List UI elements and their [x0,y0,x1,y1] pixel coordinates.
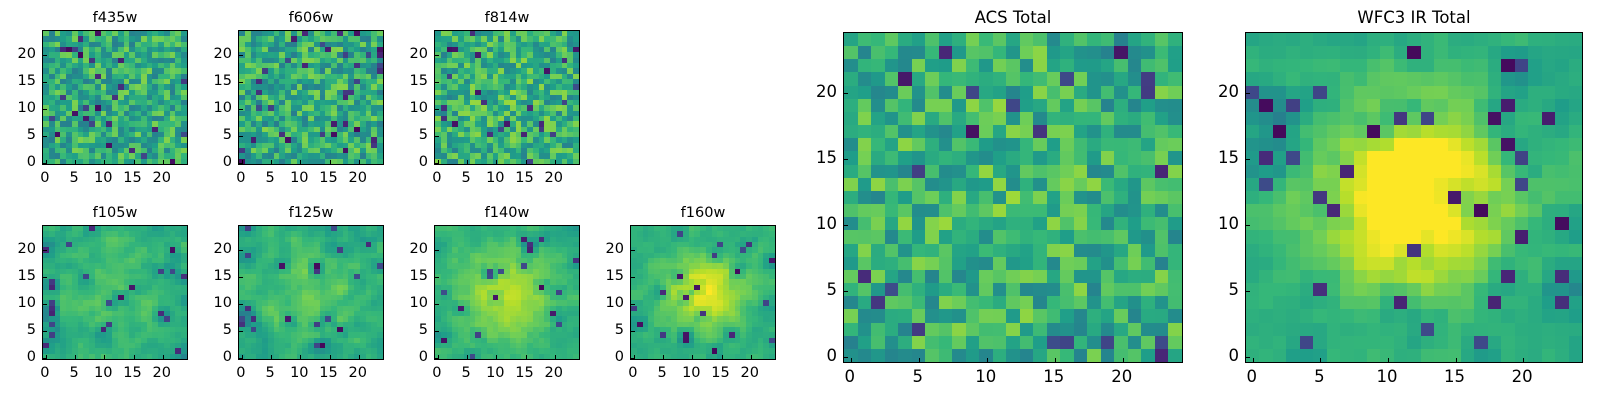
x-ticklabel-acs-total-10: 10 [975,369,996,386]
cutout-panel-f140w: f140w0510152005101520 [434,225,580,360]
y-tick-f435w-10 [43,109,47,110]
y-ticklabel-f160w-15: 15 [594,269,624,284]
y-tick-f435w-5 [43,136,47,137]
y-tick-f606w-5 [239,136,243,137]
y-ticklabel-f105w-20: 20 [6,242,36,257]
x-ticklabel-f606w-15: 15 [319,171,337,186]
x-tick-f105w-5 [75,355,76,359]
x-ticklabel-wfc3-ir-total-10: 10 [1376,369,1397,386]
panel-title-f606w: f606w [238,11,384,26]
y-ticklabel-f125w-0: 0 [202,350,232,365]
x-tick-wfc3-ir-total-15 [1456,358,1457,362]
pixel-grid-f140w [435,226,579,359]
x-ticklabel-f140w-5: 5 [461,366,470,381]
y-ticklabel-wfc3-ir-total-20: 20 [1209,83,1239,100]
x-ticklabel-f105w-10: 10 [94,366,112,381]
x-ticklabel-f160w-10: 10 [682,366,700,381]
y-ticklabel-acs-total-15: 15 [807,150,837,167]
y-tick-f125w-0 [239,358,243,359]
cutout-panel-f125w: f125w0510152005101520 [238,225,384,360]
y-tick-f140w-15 [435,277,439,278]
x-tick-f140w-20 [555,355,556,359]
pixel-grid-f435w [43,31,187,164]
x-tick-acs-total-0 [851,358,852,362]
cutout-panel-f435w: f435w0510152005101520 [42,30,188,165]
panel-title-f105w: f105w [42,206,188,221]
x-ticklabel-acs-total-15: 15 [1043,369,1064,386]
cutout-panel-f814w: f814w0510152005101520 [434,30,580,165]
x-ticklabel-f160w-0: 0 [628,366,637,381]
x-tick-f606w-20 [359,160,360,164]
image-axes-f814w [434,30,580,165]
panel-title-f814w: f814w [434,11,580,26]
y-ticklabel-f160w-10: 10 [594,296,624,311]
y-tick-f125w-10 [239,304,243,305]
cutout-panel-wfc3-ir-total: WFC3 IR Total0510152005101520 [1245,32,1583,363]
y-tick-acs-total-5 [844,291,848,292]
x-tick-f140w-10 [496,355,497,359]
x-ticklabel-f160w-5: 5 [657,366,666,381]
y-tick-acs-total-15 [844,159,848,160]
y-tick-f140w-5 [435,331,439,332]
y-tick-f125w-5 [239,331,243,332]
y-tick-f814w-5 [435,136,439,137]
x-tick-f814w-10 [496,160,497,164]
x-tick-f606w-15 [330,160,331,164]
x-ticklabel-f814w-20: 20 [544,171,562,186]
image-axes-f160w [630,225,776,360]
y-tick-f814w-20 [435,55,439,56]
y-tick-acs-total-10 [844,225,848,226]
pixel-grid-f105w [43,226,187,359]
x-ticklabel-f814w-10: 10 [486,171,504,186]
y-ticklabel-wfc3-ir-total-5: 5 [1209,282,1239,299]
x-tick-f140w-5 [467,355,468,359]
image-axes-f140w [434,225,580,360]
x-tick-f105w-20 [163,355,164,359]
image-axes-acs-total [843,32,1183,363]
panel-title-wfc3-ir-total: WFC3 IR Total [1245,10,1583,27]
x-ticklabel-f105w-20: 20 [152,366,170,381]
x-ticklabel-f105w-5: 5 [69,366,78,381]
x-tick-f125w-15 [330,355,331,359]
y-tick-f435w-15 [43,82,47,83]
image-axes-f105w [42,225,188,360]
x-ticklabel-f435w-15: 15 [123,171,141,186]
x-ticklabel-f140w-10: 10 [486,366,504,381]
y-ticklabel-f140w-20: 20 [398,242,428,257]
x-tick-f435w-5 [75,160,76,164]
pixel-grid-f814w [435,31,579,164]
panel-title-f160w: f160w [630,206,776,221]
x-tick-f125w-10 [300,355,301,359]
x-tick-f435w-10 [104,160,105,164]
x-tick-f105w-10 [104,355,105,359]
x-ticklabel-f125w-10: 10 [290,366,308,381]
x-tick-wfc3-ir-total-5 [1320,358,1321,362]
x-tick-f125w-20 [359,355,360,359]
y-ticklabel-f606w-5: 5 [202,128,232,143]
y-tick-f160w-15 [631,277,635,278]
x-tick-f606w-5 [271,160,272,164]
x-ticklabel-f435w-5: 5 [69,171,78,186]
cutout-panel-f606w: f606w0510152005101520 [238,30,384,165]
y-tick-wfc3-ir-total-5 [1246,291,1250,292]
y-tick-f105w-20 [43,250,47,251]
x-ticklabel-f606w-10: 10 [290,171,308,186]
x-ticklabel-wfc3-ir-total-5: 5 [1314,369,1325,386]
y-ticklabel-f105w-0: 0 [6,350,36,365]
x-ticklabel-wfc3-ir-total-20: 20 [1512,369,1533,386]
x-tick-acs-total-5 [919,358,920,362]
y-tick-wfc3-ir-total-0 [1246,357,1250,358]
x-tick-wfc3-ir-total-20 [1523,358,1524,362]
x-ticklabel-f160w-15: 15 [711,366,729,381]
y-tick-acs-total-20 [844,93,848,94]
y-ticklabel-wfc3-ir-total-15: 15 [1209,150,1239,167]
y-tick-f814w-0 [435,163,439,164]
y-tick-f435w-20 [43,55,47,56]
image-axes-f125w [238,225,384,360]
cutout-panel-f105w: f105w0510152005101520 [42,225,188,360]
x-tick-f105w-15 [134,355,135,359]
x-ticklabel-f814w-5: 5 [461,171,470,186]
x-ticklabel-f435w-0: 0 [40,171,49,186]
y-tick-f125w-20 [239,250,243,251]
y-tick-f814w-10 [435,109,439,110]
y-ticklabel-f814w-5: 5 [398,128,428,143]
y-tick-f160w-10 [631,304,635,305]
y-tick-f105w-5 [43,331,47,332]
x-tick-f606w-10 [300,160,301,164]
x-tick-wfc3-ir-total-0 [1253,358,1254,362]
x-tick-f160w-10 [692,355,693,359]
y-ticklabel-f814w-20: 20 [398,47,428,62]
y-tick-f140w-20 [435,250,439,251]
x-tick-f140w-15 [526,355,527,359]
y-ticklabel-f140w-5: 5 [398,323,428,338]
y-ticklabel-wfc3-ir-total-10: 10 [1209,216,1239,233]
y-ticklabel-f435w-0: 0 [6,155,36,170]
y-ticklabel-f606w-10: 10 [202,101,232,116]
y-tick-acs-total-0 [844,357,848,358]
y-ticklabel-f105w-5: 5 [6,323,36,338]
y-tick-f105w-10 [43,304,47,305]
y-ticklabel-f435w-10: 10 [6,101,36,116]
y-tick-f814w-15 [435,82,439,83]
y-ticklabel-f435w-5: 5 [6,128,36,143]
y-ticklabel-f814w-0: 0 [398,155,428,170]
x-tick-f160w-5 [663,355,664,359]
x-ticklabel-f160w-20: 20 [740,366,758,381]
y-ticklabel-acs-total-0: 0 [807,348,837,365]
y-ticklabel-f125w-20: 20 [202,242,232,257]
x-tick-acs-total-10 [987,358,988,362]
y-ticklabel-f606w-20: 20 [202,47,232,62]
y-tick-f160w-0 [631,358,635,359]
x-ticklabel-f105w-0: 0 [40,366,49,381]
x-ticklabel-f140w-0: 0 [432,366,441,381]
y-ticklabel-f140w-10: 10 [398,296,428,311]
y-ticklabel-acs-total-20: 20 [807,83,837,100]
y-ticklabel-wfc3-ir-total-0: 0 [1209,348,1239,365]
x-ticklabel-acs-total-0: 0 [845,369,856,386]
x-ticklabel-f814w-15: 15 [515,171,533,186]
x-tick-f435w-20 [163,160,164,164]
x-ticklabel-acs-total-20: 20 [1111,369,1132,386]
x-tick-wfc3-ir-total-10 [1388,358,1389,362]
x-ticklabel-f125w-5: 5 [265,366,274,381]
y-tick-wfc3-ir-total-20 [1246,93,1250,94]
y-tick-wfc3-ir-total-10 [1246,225,1250,226]
x-ticklabel-f814w-0: 0 [432,171,441,186]
y-ticklabel-f125w-10: 10 [202,296,232,311]
panel-title-f125w: f125w [238,206,384,221]
y-ticklabel-f125w-5: 5 [202,323,232,338]
y-tick-f606w-10 [239,109,243,110]
y-ticklabel-f125w-15: 15 [202,269,232,284]
pixel-grid-f125w [239,226,383,359]
y-ticklabel-f105w-10: 10 [6,296,36,311]
x-ticklabel-f105w-15: 15 [123,366,141,381]
figure-canvas: f435w0510152005101520f606w05101520051015… [0,0,1600,400]
y-tick-f140w-0 [435,358,439,359]
pixel-grid-f606w [239,31,383,164]
y-ticklabel-f140w-0: 0 [398,350,428,365]
panel-title-f435w: f435w [42,11,188,26]
image-axes-wfc3-ir-total [1245,32,1583,363]
x-tick-acs-total-20 [1123,358,1124,362]
y-ticklabel-f606w-0: 0 [202,155,232,170]
x-ticklabel-acs-total-5: 5 [913,369,924,386]
x-ticklabel-f140w-20: 20 [544,366,562,381]
x-ticklabel-f125w-20: 20 [348,366,366,381]
y-ticklabel-f140w-15: 15 [398,269,428,284]
y-tick-f105w-15 [43,277,47,278]
y-tick-f160w-5 [631,331,635,332]
y-tick-f435w-0 [43,163,47,164]
y-ticklabel-acs-total-10: 10 [807,216,837,233]
x-ticklabel-f140w-15: 15 [515,366,533,381]
y-tick-f606w-20 [239,55,243,56]
y-ticklabel-f160w-5: 5 [594,323,624,338]
image-axes-f435w [42,30,188,165]
x-ticklabel-f125w-15: 15 [319,366,337,381]
y-ticklabel-acs-total-5: 5 [807,282,837,299]
y-ticklabel-f160w-0: 0 [594,350,624,365]
panel-title-acs-total: ACS Total [843,10,1183,27]
y-tick-f105w-0 [43,358,47,359]
x-ticklabel-f435w-10: 10 [94,171,112,186]
x-tick-f814w-5 [467,160,468,164]
x-tick-f814w-15 [526,160,527,164]
y-tick-wfc3-ir-total-15 [1246,159,1250,160]
pixel-grid-f160w [631,226,775,359]
x-ticklabel-f606w-0: 0 [236,171,245,186]
y-ticklabel-f606w-15: 15 [202,74,232,89]
x-tick-f814w-20 [555,160,556,164]
x-tick-f435w-15 [134,160,135,164]
x-tick-f160w-20 [751,355,752,359]
x-tick-f160w-15 [722,355,723,359]
pixel-grid-acs-total [844,33,1182,362]
pixel-grid-wfc3-ir-total [1246,33,1582,362]
image-axes-f606w [238,30,384,165]
x-ticklabel-f606w-5: 5 [265,171,274,186]
x-tick-f125w-5 [271,355,272,359]
y-tick-f606w-15 [239,82,243,83]
y-ticklabel-f435w-15: 15 [6,74,36,89]
x-ticklabel-f435w-20: 20 [152,171,170,186]
panel-title-f140w: f140w [434,206,580,221]
x-tick-acs-total-15 [1055,358,1056,362]
cutout-panel-acs-total: ACS Total0510152005101520 [843,32,1183,363]
y-ticklabel-f435w-20: 20 [6,47,36,62]
x-ticklabel-wfc3-ir-total-0: 0 [1247,369,1258,386]
y-tick-f140w-10 [435,304,439,305]
y-ticklabel-f105w-15: 15 [6,269,36,284]
cutout-panel-f160w: f160w0510152005101520 [630,225,776,360]
x-ticklabel-f606w-20: 20 [348,171,366,186]
x-ticklabel-wfc3-ir-total-15: 15 [1444,369,1465,386]
y-tick-f606w-0 [239,163,243,164]
x-ticklabel-f125w-0: 0 [236,366,245,381]
y-ticklabel-f814w-15: 15 [398,74,428,89]
y-tick-f160w-20 [631,250,635,251]
y-tick-f125w-15 [239,277,243,278]
y-ticklabel-f814w-10: 10 [398,101,428,116]
y-ticklabel-f160w-20: 20 [594,242,624,257]
